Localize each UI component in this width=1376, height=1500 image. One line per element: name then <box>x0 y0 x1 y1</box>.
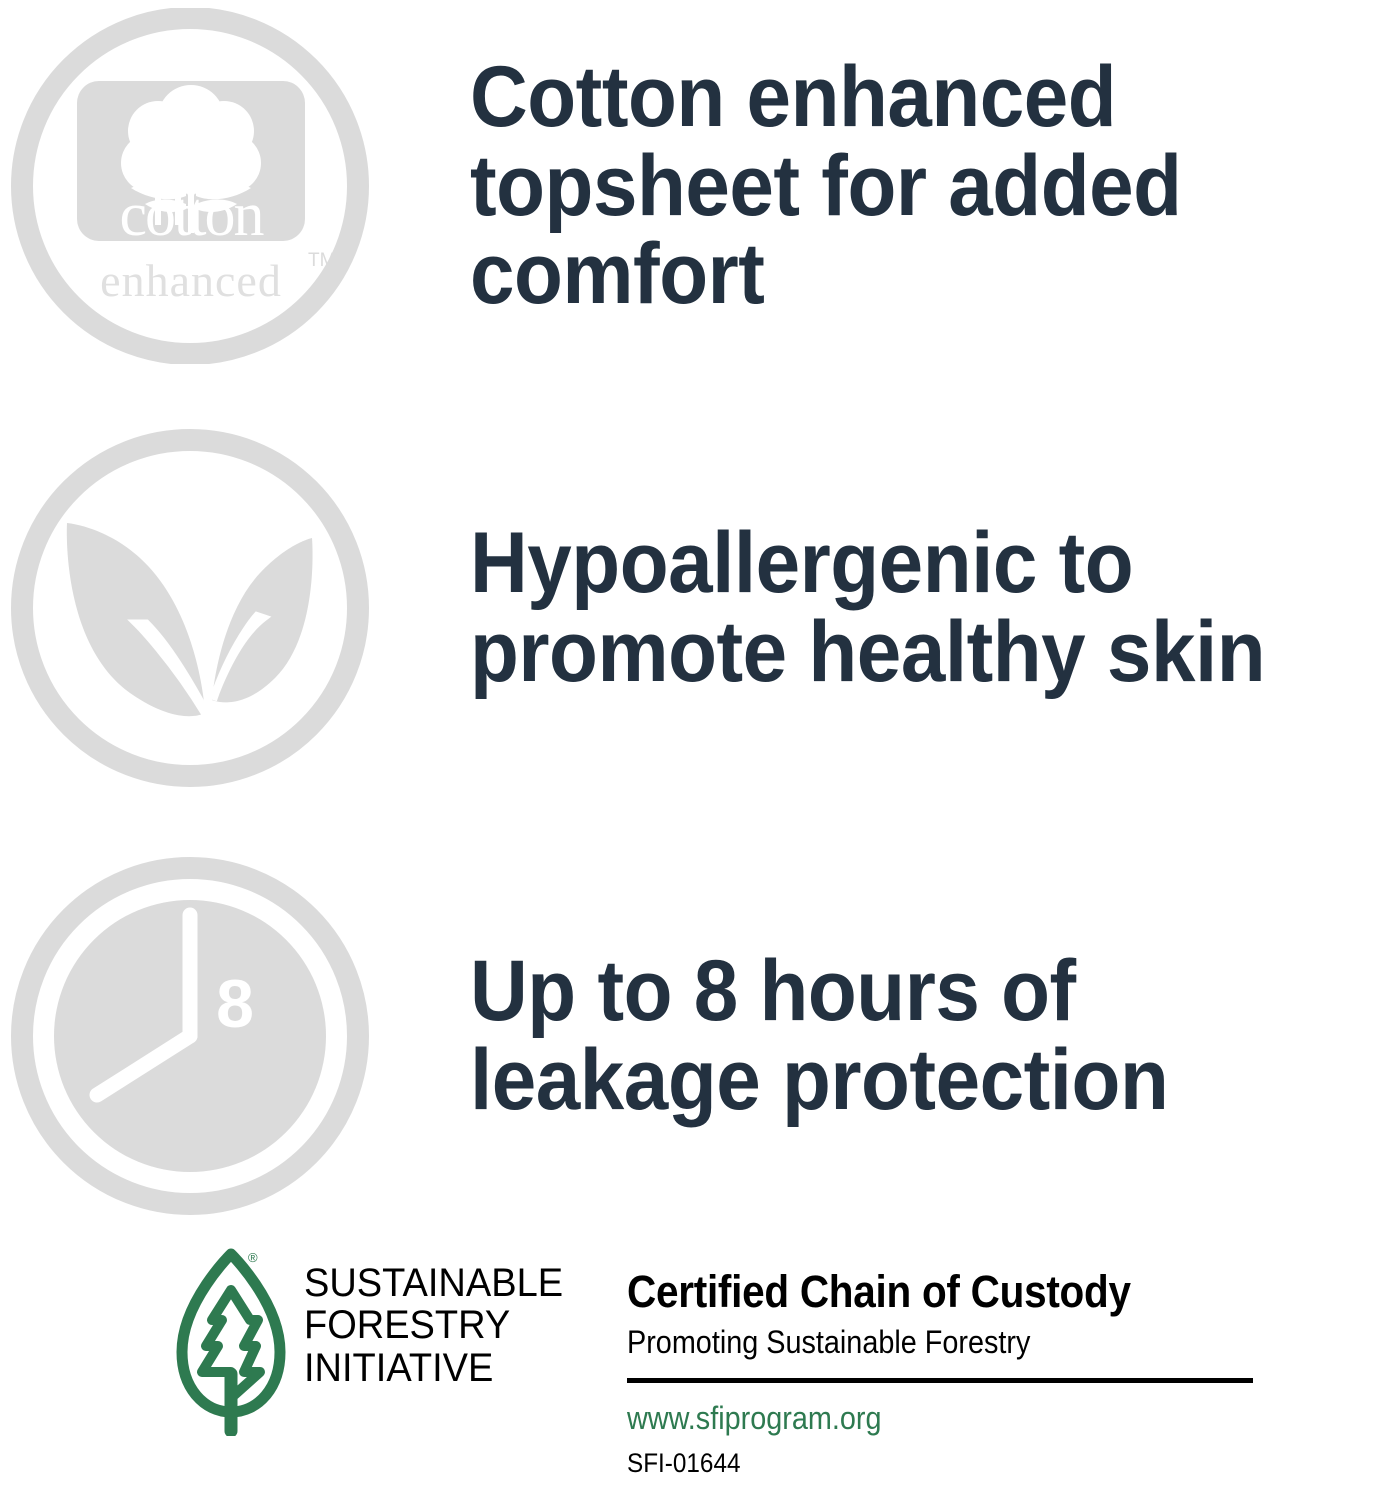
sfi-logo: ® SUSTAINABLE FORESTRY INITIATIVE <box>172 1240 577 1436</box>
sfi-wordmark-line-2: FORESTRY <box>304 1304 563 1346</box>
sfi-wordmark: SUSTAINABLE FORESTRY INITIATIVE <box>304 1262 563 1389</box>
cotton-icon-slot: cotton enhanced TM <box>0 8 470 364</box>
sfi-leaf-tree-icon: ® <box>172 1246 290 1436</box>
feature-row-cotton: cotton enhanced TM Cotton enhanced topsh… <box>0 8 1376 364</box>
certification-title: Certified Chain of Custody <box>627 1268 1194 1315</box>
sfi-certification-block: ® SUSTAINABLE FORESTRY INITIATIVE Certif… <box>0 1240 1376 1500</box>
certification-subtitle: Promoting Sustainable Forestry <box>627 1323 1194 1361</box>
clock-icon: 8 <box>0 855 470 1217</box>
leaf-icon-slot <box>0 428 470 788</box>
sfi-certification-details: Certified Chain of Custody Promoting Sus… <box>627 1268 1257 1479</box>
feature-row-hypoallergenic: Hypoallergenic to promote healthy skin <box>0 428 1376 788</box>
svg-text:cotton: cotton <box>120 181 265 249</box>
registered-trademark-icon: ® <box>248 1250 258 1265</box>
feature-text-cotton: Cotton enhanced topsheet for added comfo… <box>470 53 1313 319</box>
clock-icon-slot: 8 <box>0 855 470 1217</box>
feature-text-leakage: Up to 8 hours of leakage protection <box>470 947 1313 1124</box>
two-leaves-icon <box>0 428 470 788</box>
certification-divider <box>627 1378 1253 1383</box>
cotton-wordmark-glyphs: cotton <box>120 181 265 249</box>
clock-hour-number: 8 <box>216 966 254 1042</box>
cotton-enhanced-badge-icon: cotton enhanced TM <box>0 8 470 364</box>
cotton-enhanced-subtitle: enhanced <box>100 255 282 306</box>
sfi-wordmark-line-1: SUSTAINABLE <box>304 1262 563 1304</box>
feature-text-hypoallergenic: Hypoallergenic to promote healthy skin <box>470 519 1313 696</box>
certification-code: SFI-01644 <box>627 1447 1194 1479</box>
feature-row-leakage: 8 Up to 8 hours of leakage protection <box>0 855 1376 1217</box>
trademark-symbol: TM <box>308 250 335 271</box>
sfi-wordmark-line-3: INITIATIVE <box>304 1347 563 1389</box>
certification-url[interactable]: www.sfiprogram.org <box>627 1399 1194 1437</box>
